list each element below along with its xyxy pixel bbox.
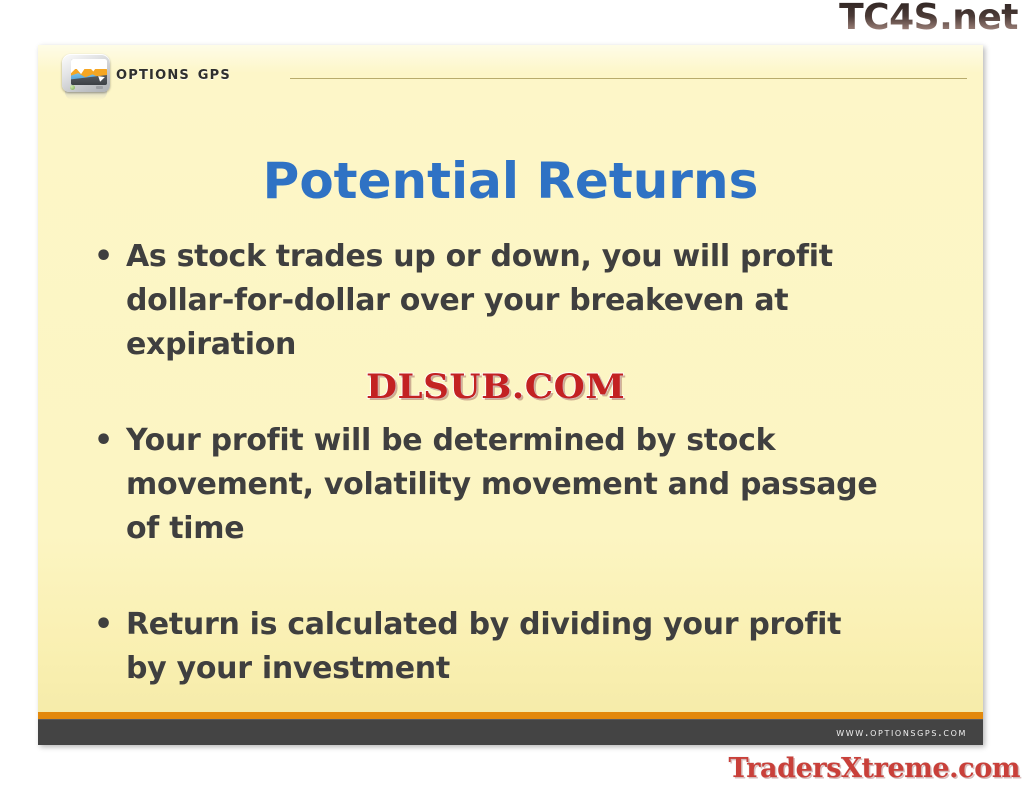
logo-port <box>96 86 103 89</box>
slide-footer: www.OptionsGPS.com <box>38 719 983 745</box>
page-background: TC4S.net <box>0 0 1024 791</box>
dlsub-watermark: DLSUB.COM <box>366 367 625 407</box>
list-item: • As stock trades up or down, you will p… <box>94 235 944 367</box>
bullet-marker-icon: • <box>94 235 126 279</box>
tc4s-watermark: TC4S.net <box>839 0 1018 38</box>
gps-device-chart-icon <box>60 54 112 96</box>
slide-header: Options GPS <box>38 45 983 101</box>
header-divider <box>290 78 967 79</box>
logo-reflection <box>65 91 107 100</box>
slide-content-area: Options GPS Potential Returns • As stock… <box>38 45 983 745</box>
bullet-marker-icon: • <box>94 419 126 463</box>
tradersxtreme-watermark: TradersXtreme.com <box>728 753 1020 785</box>
bullet-list: • As stock trades up or down, you will p… <box>94 235 944 691</box>
presentation-slide: Options GPS Potential Returns • As stock… <box>38 45 983 745</box>
list-item-text: Return is calculated by dividing your pr… <box>126 603 886 691</box>
list-item-text: As stock trades up or down, you will pro… <box>126 235 886 367</box>
list-item: • Your profit will be determined by stoc… <box>94 419 944 551</box>
list-item-text: Your profit will be determined by stock … <box>126 419 886 551</box>
logo-led-indicator <box>70 85 75 90</box>
brand-name: Options GPS <box>116 62 231 84</box>
page-title: Potential Returns <box>38 151 983 211</box>
logo-bezel <box>62 54 110 92</box>
list-item: • Return is calculated by dividing your … <box>94 603 944 691</box>
logo-screen <box>71 59 107 85</box>
footer-website-url: www.OptionsGPS.com <box>836 725 967 739</box>
bullet-marker-icon: • <box>94 603 126 647</box>
